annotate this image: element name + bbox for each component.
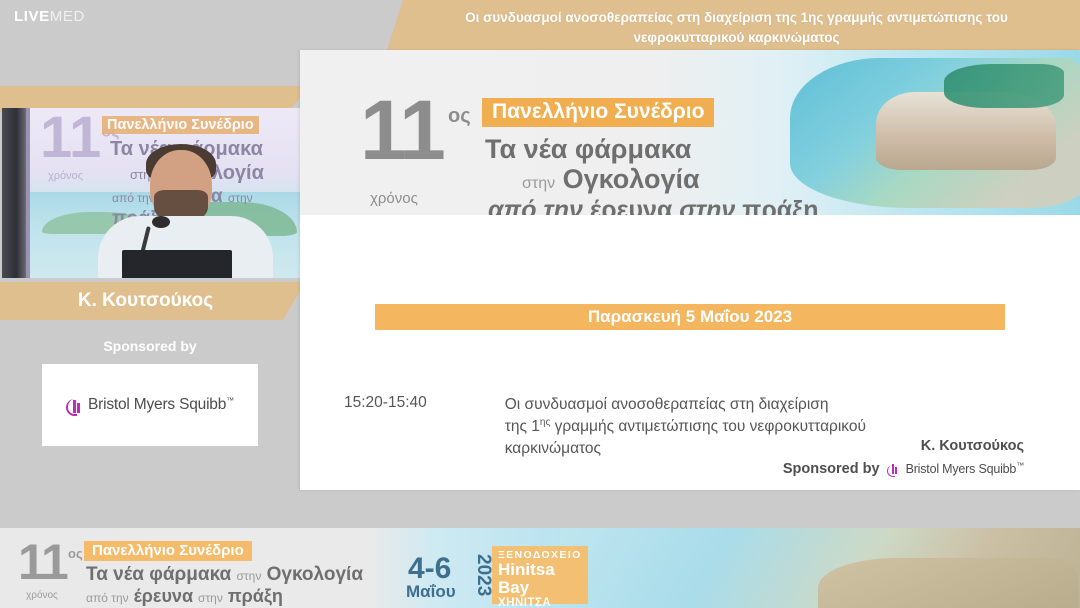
slide-congress-title: Πανελλήνιο Συνέδριο xyxy=(482,98,714,127)
footer-dates: 4-6 xyxy=(408,552,451,586)
footer-year: 2023 xyxy=(472,554,494,596)
backdrop-number-text: 11 xyxy=(40,108,101,170)
slide-congress-line4-b: έρευνα xyxy=(590,196,672,215)
footer-line2-a: Τα νέα φάρμακα xyxy=(86,564,231,585)
footer-line3-small: στην xyxy=(198,591,223,605)
footer-chronos: χρόνος xyxy=(26,590,58,601)
slide-island-trees xyxy=(944,64,1064,108)
sponsor-name: Bristol Myers Squibb™ xyxy=(88,396,234,414)
session-line1: Οι συνδυασμοί ανοσοθεραπείας στη διαχείρ… xyxy=(505,396,829,413)
backdrop-line4-a: από την xyxy=(112,191,155,205)
footer-line3-c: πράξη xyxy=(228,586,283,606)
video-left-wall xyxy=(2,108,26,278)
slide-congress-chronos: χρόνος xyxy=(370,190,418,207)
speaker-video[interactable]: 11ος χρόνος Πανελλήνιο Συνέδριο Τα νέα φ… xyxy=(2,108,307,278)
sponsor-trademark: ™ xyxy=(226,396,234,405)
slide-sponsor-name: Bristol Myers Squibb™ xyxy=(906,461,1024,476)
slide-congress-line2: Τα νέα φάρμακα xyxy=(485,134,691,165)
footer-land xyxy=(818,558,1078,608)
slide-congress-line4-a: από την xyxy=(488,196,583,215)
livemed-logo-live: LIVE xyxy=(14,8,50,25)
sponsored-by-label: Sponsored by xyxy=(0,338,300,354)
presentation-slide[interactable]: 11 ος χρόνος Πανελλήνιο Συνέδριο Τα νέα … xyxy=(300,50,1080,490)
footer-congress: Πανελλήνιο Συνέδριο xyxy=(84,541,252,561)
footer-line2-b: Ογκολογία xyxy=(267,564,363,585)
sponsor-logo-card: Bristol Myers Squibb™ xyxy=(42,364,258,446)
livestream-player: LIVEMED Οι συνδυασμοί ανοσοθεραπείας στη… xyxy=(0,0,1080,608)
slide-sponsored-by-label: Sponsored by xyxy=(783,461,880,477)
footer-line3-a: από την xyxy=(86,591,129,605)
slide-header-banner: 11 ος χρόνος Πανελλήνιο Συνέδριο Τα νέα … xyxy=(300,50,1080,215)
session-line2-a: της 1 xyxy=(505,418,540,435)
session-line3: καρκινώματος xyxy=(505,440,601,457)
slide-congress-line4-c: στην xyxy=(679,196,735,215)
footer-line3-b: έρευνα xyxy=(134,586,193,606)
slide-congress-number: 11 xyxy=(360,98,443,164)
backdrop-line4-c: στην xyxy=(228,191,253,205)
speaker-name-band: Κ. Κουτσούκος xyxy=(0,282,305,320)
slide-sponsor-row: Sponsored by Bristol Myers Squibb™ xyxy=(783,461,1024,477)
footer-number: 11 xyxy=(18,542,67,582)
livemed-logo-med: MED xyxy=(50,8,85,25)
backdrop-chronos: χρόνος xyxy=(48,170,83,182)
laptop xyxy=(122,250,232,278)
livemed-logo: LIVEMED xyxy=(14,8,85,25)
session-title-banner: Οι συνδυασμοί ανοσοθεραπείας στη διαχείρ… xyxy=(385,0,1080,56)
slide-sponsor-company-text: Bristol Myers Squibb xyxy=(906,463,1017,477)
bristol-myers-squibb-icon xyxy=(66,394,82,416)
slide-congress-line4: από την έρευνα στην πράξη xyxy=(488,196,819,215)
session-line2-sup: ης xyxy=(540,417,550,428)
session-time: 15:20-15:40 xyxy=(344,394,427,460)
footer-line2: Τα νέα φάρμακα στην Ογκολογία xyxy=(86,564,363,586)
sponsor-company-text: Bristol Myers Squibb xyxy=(88,396,226,413)
slide-congress-line4-d: πράξη xyxy=(742,196,818,215)
footer-hotel-name: Hinitsa Bay xyxy=(498,561,582,597)
footer-banner: 11 ος χρόνος Πανελλήνιο Συνέδριο Τα νέα … xyxy=(0,528,1080,608)
slide-sponsor-trademark: ™ xyxy=(1016,461,1024,470)
footer-line3: από την έρευνα στην πράξη xyxy=(86,586,283,607)
footer-month: Μαΐου xyxy=(406,582,456,602)
slide-congress-ordinal: ος xyxy=(448,105,471,128)
bristol-myers-squibb-icon-small xyxy=(887,461,899,477)
footer-ordinal: ος xyxy=(68,546,83,561)
footer-hotel-block: ΞΕΝΟΔΟΧΕΙΟ Hinitsa Bay ΧΗΝΙΤΣΑ xyxy=(492,546,588,604)
footer-hotel-gr: ΧΗΝΙΤΣΑ xyxy=(498,597,582,608)
session-title-text: Οι συνδυασμοί ανοσοθεραπείας στη διαχείρ… xyxy=(385,8,1080,47)
speaker-name: Κ. Κουτσούκος xyxy=(78,290,227,312)
slide-congress-line3: στην Ογκολογία xyxy=(522,164,700,195)
video-left-edge xyxy=(26,108,30,278)
backdrop-congress: Πανελλήνιο Συνέδριο xyxy=(102,116,259,134)
microphone-head-icon xyxy=(152,216,170,228)
slide-congress-line3-small: στην xyxy=(522,175,555,192)
slide-date-band: Παρασκευή 5 Μαΐου 2023 xyxy=(375,304,1005,330)
session-line2-b: γραμμής αντιμετώπισης του νεφροκυτταρικο… xyxy=(550,418,866,435)
footer-line2-small: στην xyxy=(237,569,262,583)
slide-speaker-name: Κ. Κουτσούκος xyxy=(921,438,1024,454)
session-description: Οι συνδυασμοί ανοσοθεραπείας στη διαχείρ… xyxy=(505,394,866,460)
slide-congress-line3-big: Ογκολογία xyxy=(563,164,700,194)
